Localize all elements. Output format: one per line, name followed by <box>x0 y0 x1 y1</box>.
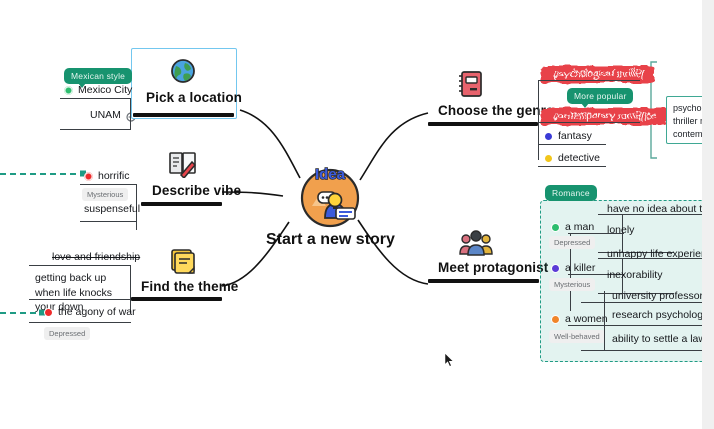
subtopic-label: detective <box>558 152 600 164</box>
right-panel-strip <box>702 0 714 429</box>
sticky-notes-icon <box>170 248 196 278</box>
rule-ability-lawsuit <box>581 350 714 351</box>
underline-describe-vibe <box>141 202 222 206</box>
rule-horrific <box>80 184 137 185</box>
orange-person-dot <box>551 315 560 324</box>
subtopic-fantasy[interactable]: fantasy <box>544 130 592 142</box>
rule-agony-of-war <box>29 322 131 323</box>
tag-mysterious-vibe[interactable]: Mysterious <box>82 188 128 201</box>
underline-choose-the-genre <box>428 122 538 126</box>
branch-title-choose-the-genre[interactable]: Choose the genre <box>438 103 554 118</box>
subtopic-label: suspenseful <box>84 203 140 215</box>
green-check-dot <box>64 86 73 95</box>
subtopic-label: ability to settle a lawsuit <box>612 333 714 345</box>
subtopic-unam[interactable]: UNAM <box>90 109 121 121</box>
vrule-genre <box>538 80 539 160</box>
subtopic-label: a women <box>565 313 608 325</box>
subtopic-label: horrific <box>98 170 130 182</box>
subtopic-university-professor[interactable]: university professor <box>612 290 703 302</box>
tag-mysterious[interactable]: Mysterious <box>549 278 595 291</box>
subtopic-label: a man <box>565 221 594 233</box>
subtopic-agony-of-war[interactable]: the agony of war <box>44 306 136 318</box>
subtopic-a-women[interactable]: a women <box>551 313 608 325</box>
subtopic-label: university professor <box>612 290 703 302</box>
tag-well-behaved[interactable]: Well-behaved <box>549 330 605 343</box>
tag-depressed-theme[interactable]: Depressed <box>44 327 90 340</box>
open-book-pencil-icon <box>168 150 198 182</box>
vrule-location <box>130 98 131 130</box>
rule-love-and-friendship <box>29 265 131 266</box>
subtopic-label: love and friendship <box>52 251 140 263</box>
underline-pick-a-location <box>133 113 234 117</box>
subtopic-label: the agony of war <box>58 306 136 318</box>
rule-fantasy <box>538 144 606 145</box>
rule-unam <box>60 129 131 130</box>
underline-find-the-theme <box>131 297 222 301</box>
branch-title-find-the-theme[interactable]: Find the theme <box>141 279 238 294</box>
subtopic-label: lonely <box>607 224 634 236</box>
tag-depressed[interactable]: Depressed <box>549 236 595 249</box>
rule-detective <box>538 166 606 167</box>
blue-dot <box>544 132 553 141</box>
subtopic-love-and-friendship[interactable]: love and friendship <box>52 251 140 263</box>
green-person-dot <box>551 223 560 232</box>
tag-mexican-style[interactable]: Mexican style <box>64 68 132 84</box>
subtopic-a-killer[interactable]: a killer <box>551 262 595 274</box>
red-ring-dot <box>44 308 53 317</box>
mouse-pointer <box>444 352 455 368</box>
red-notebook-icon <box>458 70 484 102</box>
rule-suspenseful <box>80 221 137 222</box>
branch-title-meet-protagonist[interactable]: Meet protagonist <box>438 260 548 275</box>
subtopic-suspenseful[interactable]: suspenseful <box>84 203 140 215</box>
rule-research-psychologist <box>581 325 714 326</box>
subtopic-label: contemporary romance <box>554 111 657 122</box>
subtopic-label: psychological thriller <box>554 69 644 80</box>
subtopic-ability-to-settle-a-lawsuit[interactable]: ability to settle a lawsuit <box>612 333 714 345</box>
subtopic-label: UNAM <box>90 109 121 121</box>
mindmap-canvas[interactable]: Idea Start a new story Pick a location M… <box>0 0 714 429</box>
three-people-icon <box>459 230 493 260</box>
center-topic-icon: Idea <box>292 160 368 233</box>
rule-getting-back-up <box>29 299 131 300</box>
branch-title-pick-a-location[interactable]: Pick a location <box>146 90 242 105</box>
tag-more-popular[interactable]: More popular <box>567 88 633 104</box>
subtopic-a-man[interactable]: a man <box>551 221 594 233</box>
rule-psych-thriller <box>538 80 640 81</box>
subtopic-research-psychologist[interactable]: research psychologist <box>612 309 714 321</box>
subtopic-inexorability[interactable]: inexorability <box>607 269 662 281</box>
subtopic-label: fantasy <box>558 130 592 142</box>
underline-meet-protagonist <box>428 279 539 283</box>
red-dot <box>84 172 93 181</box>
rule-contemporary-romance <box>538 122 640 123</box>
subtopic-lonely[interactable]: lonely <box>607 224 634 236</box>
subtopic-mexico-city[interactable]: Mexico City <box>64 84 132 96</box>
branch-title-describe-vibe[interactable]: Describe vibe <box>152 183 241 198</box>
subtopic-horrific[interactable]: horrific <box>84 170 130 182</box>
rule-have-no-idea <box>598 214 714 215</box>
boundary-label-romance[interactable]: Romance <box>545 185 597 201</box>
rule-university-professor <box>581 302 714 303</box>
yellow-dot <box>544 154 553 163</box>
rule-unhappy-life <box>598 258 714 259</box>
subtopic-label: research psychologist <box>612 309 714 321</box>
globe-icon <box>170 58 196 88</box>
subtopic-detective[interactable]: detective <box>544 152 600 164</box>
idea-label: Idea <box>315 166 346 183</box>
rule-mexico-city <box>60 98 131 99</box>
subtopic-label: inexorability <box>607 269 662 281</box>
subtopic-label: Mexico City <box>78 84 132 96</box>
purple-person-dot <box>551 264 560 273</box>
center-topic-title[interactable]: Start a new story <box>266 231 395 249</box>
vrule-a-women-children <box>604 291 605 350</box>
subtopic-label: a killer <box>565 262 595 274</box>
